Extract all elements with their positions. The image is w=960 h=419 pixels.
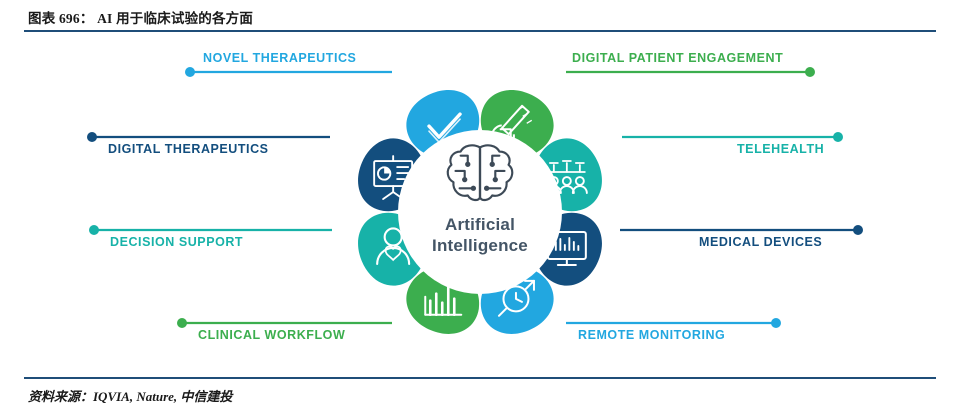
label-decision-support[interactable]: DECISION SUPPORT [110,235,243,249]
connector-telehealth [622,132,843,142]
label-telehealth[interactable]: TELEHEALTH [737,142,824,156]
header-divider [24,30,936,32]
connector-decision-support [89,225,332,235]
center-hub[interactable] [398,130,562,294]
connector-digital-patient-engagement [566,67,815,77]
connector-clinical-workflow [177,318,392,328]
connector-medical-devices [620,225,863,235]
infographic-svg [0,34,960,377]
page-title: 图表 696： AI 用于临床试验的各方面 [28,7,253,27]
figure-header: 图表 696： AI 用于临床试验的各方面 [0,0,960,34]
center-label-line1: Artificial [380,214,580,235]
center-label-line2: Intelligence [380,235,580,256]
footer-divider [24,377,936,379]
label-remote-monitoring[interactable]: REMOTE MONITORING [578,328,725,342]
connector-remote-monitoring [566,318,781,328]
connector-digital-therapeutics [87,132,330,142]
connector-novel-therapeutics [185,67,392,77]
label-clinical-workflow[interactable]: CLINICAL WORKFLOW [198,328,345,342]
label-digital-therapeutics[interactable]: DIGITAL THERAPEUTICS [108,142,269,156]
label-novel-therapeutics[interactable]: NOVEL THERAPEUTICS [203,51,356,65]
center-label: Artificial Intelligence [380,214,580,256]
radial-infographic: Artificial Intelligence NOVEL THERAPEUTI… [0,34,960,377]
label-digital-patient-engagement[interactable]: DIGITAL PATIENT ENGAGEMENT [572,51,783,65]
label-medical-devices[interactable]: MEDICAL DEVICES [699,235,822,249]
source-note: 资料来源：IQVIA, Nature, 中信建投 [28,386,232,405]
